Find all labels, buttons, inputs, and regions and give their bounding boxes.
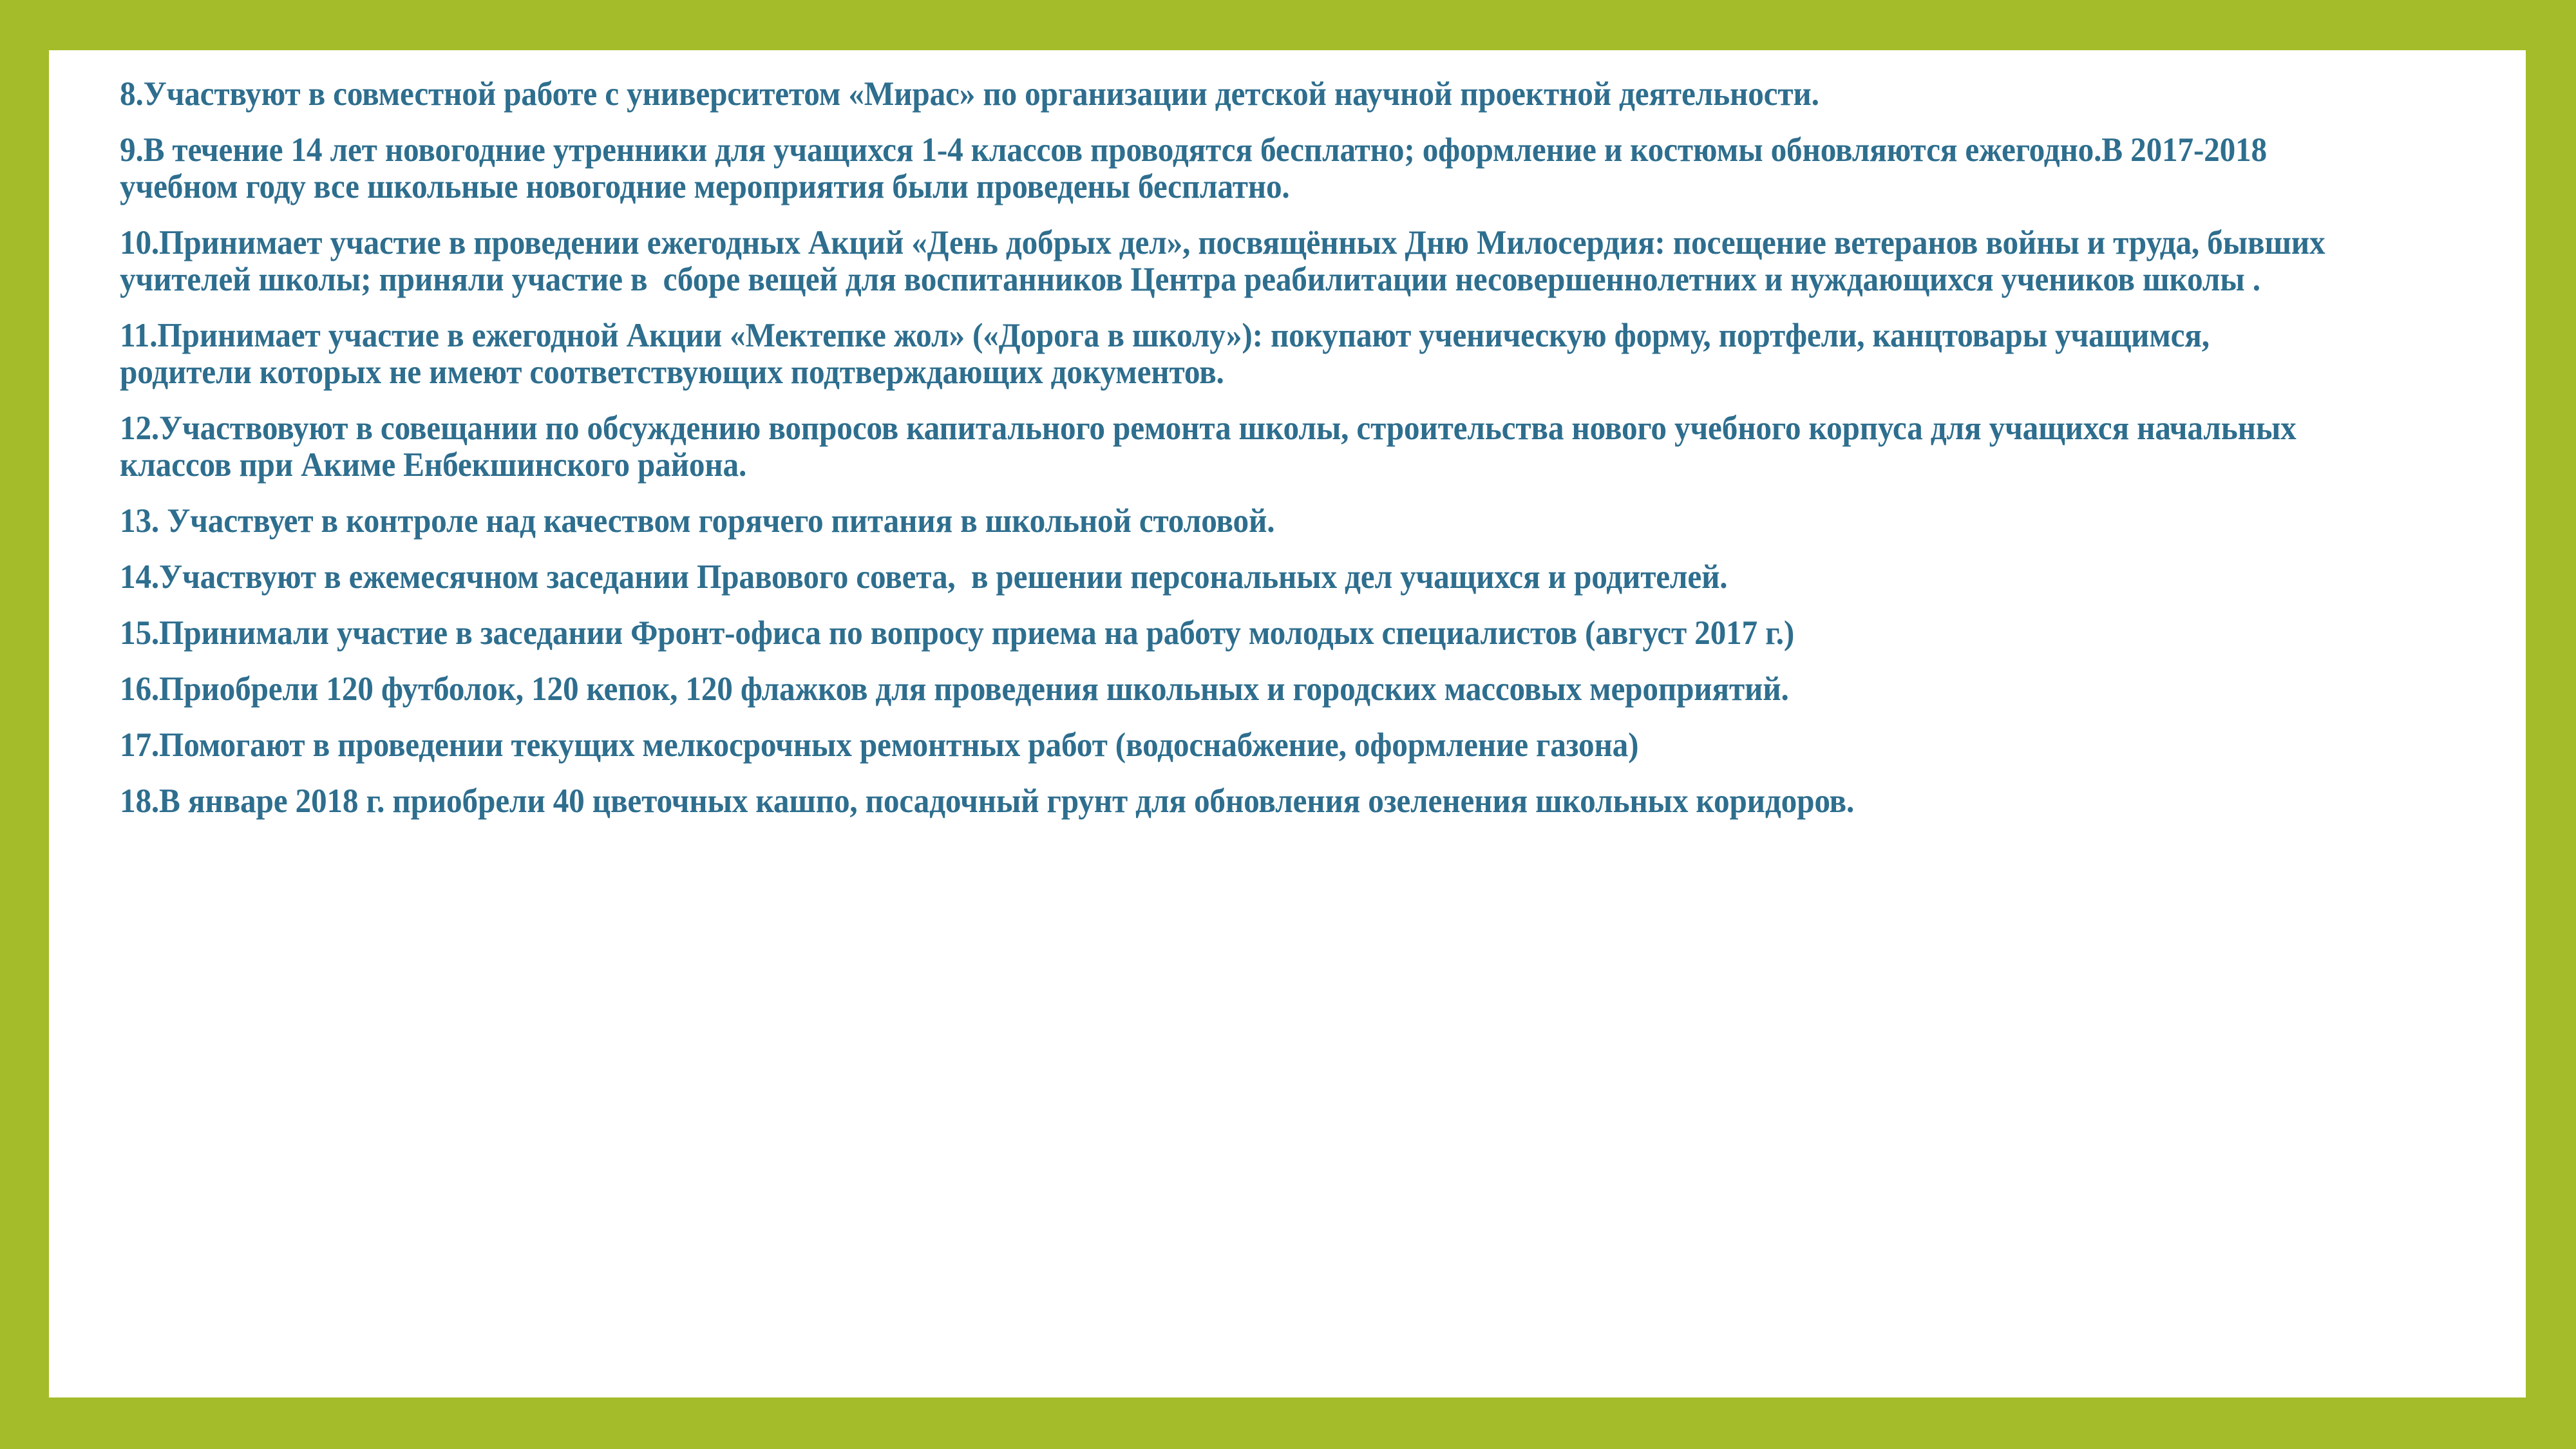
list-item: 13. Участвует в контроле над качеством г… xyxy=(120,503,2336,540)
list-item: 18.В январе 2018 г. приобрели 40 цветочн… xyxy=(120,783,2336,820)
list-item: 16.Приобрели 120 футболок, 120 кепок, 12… xyxy=(120,671,2336,708)
list-item: 9.В течение 14 лет новогодние утренники … xyxy=(120,132,2336,205)
list-item: 12.Участвовуют в совещании по обсуждению… xyxy=(120,410,2336,484)
slide-body-text-container: 8.Участвуют в совместной работе с универ… xyxy=(120,76,2503,820)
list-item: 14.Участвуют в ежемесячном заседании Пра… xyxy=(120,559,2336,596)
slide-content-panel: 8.Участвуют в совместной работе с универ… xyxy=(49,50,2526,1397)
list-item: 8.Участвуют в совместной работе с универ… xyxy=(120,76,2336,113)
list-item: 11.Принимает участие в ежегодной Акции «… xyxy=(120,317,2336,391)
list-item: 10.Принимает участие в проведении ежегод… xyxy=(120,225,2336,298)
list-item: 17.Помогают в проведении текущих мелкоср… xyxy=(120,727,2336,764)
list-item: 15.Принимали участие в заседании Фронт-о… xyxy=(120,615,2336,652)
presentation-slide: 8.Участвуют в совместной работе с универ… xyxy=(0,0,2576,1449)
